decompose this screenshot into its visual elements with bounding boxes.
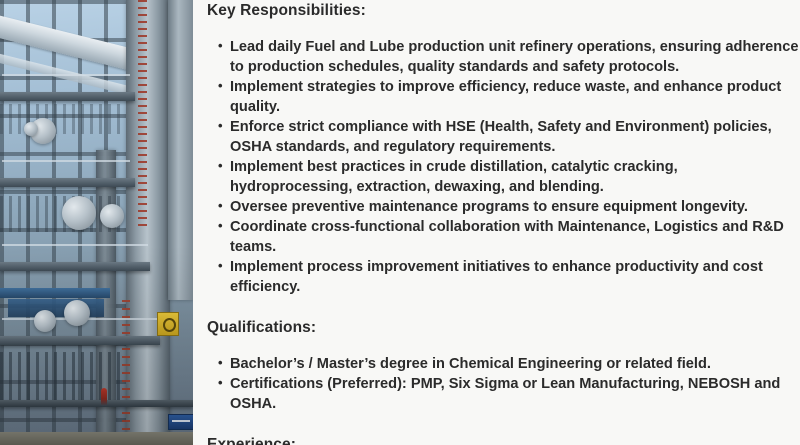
- list-item: Implement process improvement initiative…: [218, 257, 800, 297]
- platform-deck-2: [0, 178, 135, 187]
- list-item: Certifications (Preferred): PMP, Six Sig…: [218, 374, 800, 414]
- job-description-content: Key Responsibilities: Lead daily Fuel an…: [193, 0, 800, 445]
- list-item: Implement strategies to improve efficien…: [218, 77, 800, 117]
- list-item: Bachelor’s / Master’s degree in Chemical…: [218, 354, 800, 374]
- list-item: Lead daily Fuel and Lube production unit…: [218, 37, 800, 77]
- blue-painted-beam: [0, 288, 110, 298]
- heat-exchanger-vessel-6: [24, 122, 38, 136]
- warning-sign-icon: [157, 312, 179, 336]
- distillation-column-secondary: [168, 0, 193, 300]
- heading-experience: Experience:: [193, 436, 800, 445]
- platform-deck-5: [0, 400, 193, 407]
- list-item: Implement best practices in crude distil…: [218, 157, 800, 197]
- ground-strip: [0, 432, 193, 445]
- heat-exchanger-vessel-5: [64, 300, 90, 326]
- platform-railing-2: [2, 160, 130, 180]
- list-qualifications: Bachelor’s / Master’s degree in Chemical…: [193, 354, 800, 414]
- heat-exchanger-vessel-3: [100, 204, 124, 228]
- platform-deck-1: [0, 92, 135, 101]
- heading-key-responsibilities: Key Responsibilities:: [193, 2, 800, 20]
- worker-figure: [101, 388, 107, 406]
- list-item: Oversee preventive maintenance programs …: [218, 197, 800, 217]
- heat-exchanger-vessel-4: [34, 310, 56, 332]
- platform-railing-1: [2, 74, 130, 94]
- access-ladder-upper-icon: [138, 0, 147, 230]
- site-signboard: [168, 414, 193, 430]
- heat-exchanger-vessel-2: [62, 196, 96, 230]
- platform-deck-4: [0, 336, 160, 345]
- distillation-column-main: [126, 0, 170, 445]
- list-key-responsibilities: Lead daily Fuel and Lube production unit…: [193, 37, 800, 297]
- oil-refinery-photograph: [0, 0, 193, 445]
- heading-qualifications: Qualifications:: [193, 319, 800, 337]
- list-item: Coordinate cross-functional collaboratio…: [218, 217, 800, 257]
- job-posting-page: Key Responsibilities: Lead daily Fuel an…: [0, 0, 800, 445]
- list-item: Enforce strict compliance with HSE (Heal…: [218, 117, 800, 157]
- platform-railing-3: [2, 244, 148, 264]
- platform-deck-3: [0, 262, 150, 271]
